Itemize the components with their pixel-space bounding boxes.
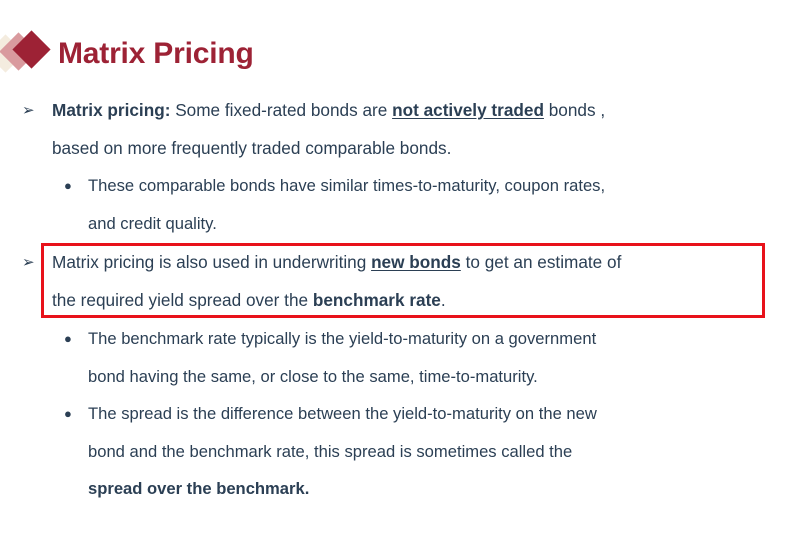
subbullet-run-text: These comparable bonds have similar time… bbox=[88, 176, 605, 195]
bullet-matrix-pricing-definition: ➢ Matrix pricing: Some fixed-rated bonds… bbox=[0, 92, 793, 130]
subbullet-run-bold: spread over the benchmark. bbox=[88, 479, 309, 498]
arrow-bullet-icon: ➢ bbox=[22, 244, 35, 282]
bullet-run-text: Some fixed-rated bonds are bbox=[170, 100, 392, 120]
bullet-run-bold-underline: new bonds bbox=[371, 252, 461, 272]
content-block-highlighted: ➢ Matrix pricing is also used in underwr… bbox=[0, 244, 793, 319]
subbullet-benchmark-rate-line2: bond having the same, or close to the sa… bbox=[0, 358, 793, 396]
subbullet-spread-definition-line2: bond and the benchmark rate, this spread… bbox=[0, 433, 793, 471]
content-block-top: ➢ Matrix pricing: Some fixed-rated bonds… bbox=[0, 92, 793, 242]
bullet-underwriting-new-bonds: ➢ Matrix pricing is also used in underwr… bbox=[0, 244, 793, 282]
arrow-bullet-icon: ➢ bbox=[22, 92, 35, 130]
dot-bullet-icon: ● bbox=[64, 167, 72, 205]
slide-canvas: Matrix Pricing ➢ Matrix pricing: Some fi… bbox=[0, 0, 793, 547]
bullet-run-bold: benchmark rate bbox=[313, 290, 441, 310]
bullet-run-tail: bonds , bbox=[544, 100, 605, 120]
subbullet-comparable-bonds: ● These comparable bonds have similar ti… bbox=[0, 167, 793, 205]
subbullet-run-text: bond having the same, or close to the sa… bbox=[88, 367, 538, 386]
subbullet-run-text: The benchmark rate typically is the yiel… bbox=[88, 329, 596, 348]
subbullet-spread-definition: ● The spread is the difference between t… bbox=[0, 395, 793, 433]
bullet-run-tail: to get an estimate of bbox=[461, 252, 622, 272]
bullet-run-bold-lead: Matrix pricing: bbox=[52, 100, 170, 120]
bullet-run-text: the required yield spread over the bbox=[52, 290, 313, 310]
subbullet-run-text: bond and the benchmark rate, this spread… bbox=[88, 442, 572, 461]
bullet-run-tail: . bbox=[441, 290, 446, 310]
dot-bullet-icon: ● bbox=[64, 320, 72, 358]
subbullet-comparable-bonds-line2: and credit quality. bbox=[0, 205, 793, 243]
content-block-bottom: ● The benchmark rate typically is the yi… bbox=[0, 320, 793, 508]
bullet-underwriting-new-bonds-line2: the required yield spread over the bench… bbox=[0, 282, 793, 320]
bullet-run-bold-underline: not actively traded bbox=[392, 100, 544, 120]
slide-title-row: Matrix Pricing bbox=[0, 26, 254, 82]
subbullet-benchmark-rate: ● The benchmark rate typically is the yi… bbox=[0, 320, 793, 358]
subbullet-spread-definition-line3: spread over the benchmark. bbox=[0, 470, 793, 508]
subbullet-run-text: The spread is the difference between the… bbox=[88, 404, 597, 423]
page-title: Matrix Pricing bbox=[58, 39, 254, 69]
bullet-run-text: Matrix pricing is also used in underwrit… bbox=[52, 252, 371, 272]
three-diamonds-icon bbox=[0, 31, 54, 77]
bullet-matrix-pricing-definition-line2: based on more frequently traded comparab… bbox=[0, 130, 793, 168]
bullet-run-text: based on more frequently traded comparab… bbox=[52, 138, 451, 158]
subbullet-run-text: and credit quality. bbox=[88, 214, 217, 233]
dot-bullet-icon: ● bbox=[64, 395, 72, 433]
